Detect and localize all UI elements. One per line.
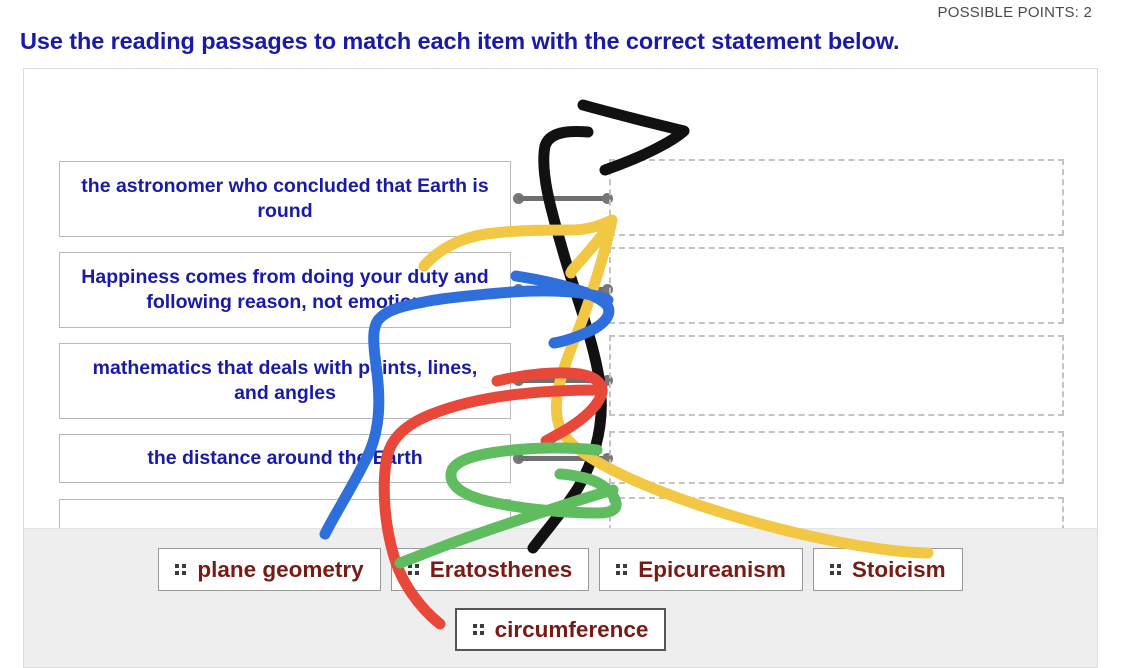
- connector-bar: [518, 287, 608, 292]
- matching-exercise-card: the astronomer who concluded that Earth …: [23, 68, 1098, 668]
- dropzone-4[interactable]: [609, 431, 1064, 484]
- connector-bar: [518, 378, 608, 383]
- token-label: Epicureanism: [638, 557, 786, 583]
- answer-bank-row-1: plane geometry Eratosthenes Epicureanism…: [24, 548, 1097, 591]
- connector-4: [513, 453, 613, 464]
- grip-dots-icon: [473, 624, 484, 635]
- connector-bar: [518, 196, 608, 201]
- prompt-label: Happiness comes from doing your duty and…: [74, 265, 496, 315]
- prompt-label: the astronomer who concluded that Earth …: [74, 174, 496, 224]
- connector-1: [513, 193, 613, 204]
- grip-dots-icon: [408, 564, 419, 575]
- token-label: circumference: [495, 617, 649, 643]
- token-label: Stoicism: [852, 557, 946, 583]
- prompt-box-4[interactable]: the distance around the Earth: [59, 434, 511, 483]
- grip-dots-icon: [175, 564, 186, 575]
- grip-dots-icon: [830, 564, 841, 575]
- token-epicureanism[interactable]: Epicureanism: [599, 548, 803, 591]
- possible-points-label: POSSIBLE POINTS: 2: [938, 4, 1093, 21]
- dropzone-1[interactable]: [609, 159, 1064, 236]
- token-label: Eratosthenes: [430, 557, 573, 583]
- connector-3: [513, 375, 613, 386]
- answer-bank: plane geometry Eratosthenes Epicureanism…: [24, 528, 1097, 668]
- connector-2: [513, 284, 613, 295]
- match-area: the astronomer who concluded that Earth …: [24, 69, 1097, 528]
- dropzone-3[interactable]: [609, 335, 1064, 416]
- token-stoicism[interactable]: Stoicism: [813, 548, 963, 591]
- prompt-box-1[interactable]: the astronomer who concluded that Earth …: [59, 161, 511, 237]
- token-plane-geometry[interactable]: plane geometry: [158, 548, 380, 591]
- instruction-text: Use the reading passages to match each i…: [20, 28, 899, 55]
- prompt-box-2[interactable]: Happiness comes from doing your duty and…: [59, 252, 511, 328]
- answer-bank-row-2: circumference: [24, 608, 1097, 651]
- prompt-label: the distance around the Earth: [147, 446, 422, 471]
- dropzone-2[interactable]: [609, 247, 1064, 324]
- token-eratosthenes[interactable]: Eratosthenes: [391, 548, 590, 591]
- grip-dots-icon: [616, 564, 627, 575]
- token-circumference[interactable]: circumference: [455, 608, 667, 651]
- connector-bar: [518, 456, 608, 461]
- prompt-box-3[interactable]: mathematics that deals with points, line…: [59, 343, 511, 419]
- token-label: plane geometry: [197, 557, 363, 583]
- prompt-label: mathematics that deals with points, line…: [74, 356, 496, 406]
